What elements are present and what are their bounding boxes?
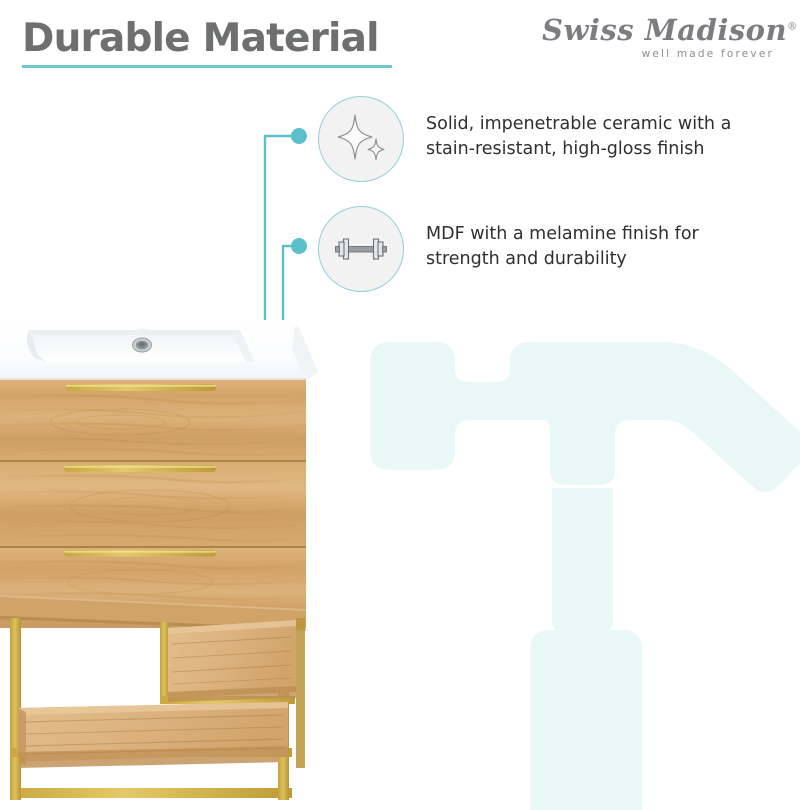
- gold-bar-handle: [66, 384, 216, 391]
- gold-bar-handle: [64, 550, 216, 557]
- infographic-canvas: Durable Material Swiss Madison® well mad…: [0, 0, 800, 800]
- connector-dot-filled: [291, 238, 307, 254]
- gold-bar-handle: [64, 465, 216, 472]
- white-ceramic-integrated-sink: [0, 320, 318, 381]
- vanity-drawer-middle: [0, 462, 320, 548]
- callout-text: MDF with a melamine finish for strength …: [426, 222, 736, 272]
- freestanding-bathroom-vanity: [0, 310, 320, 800]
- sparkle-shine-icon: [318, 96, 404, 182]
- niche-shelf: [168, 620, 296, 702]
- base-front-rail: [10, 788, 292, 798]
- callout-mdf[interactable]: MDF with a melamine finish for strength …: [318, 206, 736, 292]
- callout-ceramic[interactable]: Solid, impenetrable ceramic with a stain…: [318, 96, 736, 182]
- open-wood-shelf: [18, 702, 288, 768]
- connector-dot-filled: [291, 128, 307, 144]
- callout-text: Solid, impenetrable ceramic with a stain…: [426, 112, 736, 162]
- vanity-drawer-top: [0, 380, 320, 462]
- dumbbell-strength-icon: [318, 206, 404, 292]
